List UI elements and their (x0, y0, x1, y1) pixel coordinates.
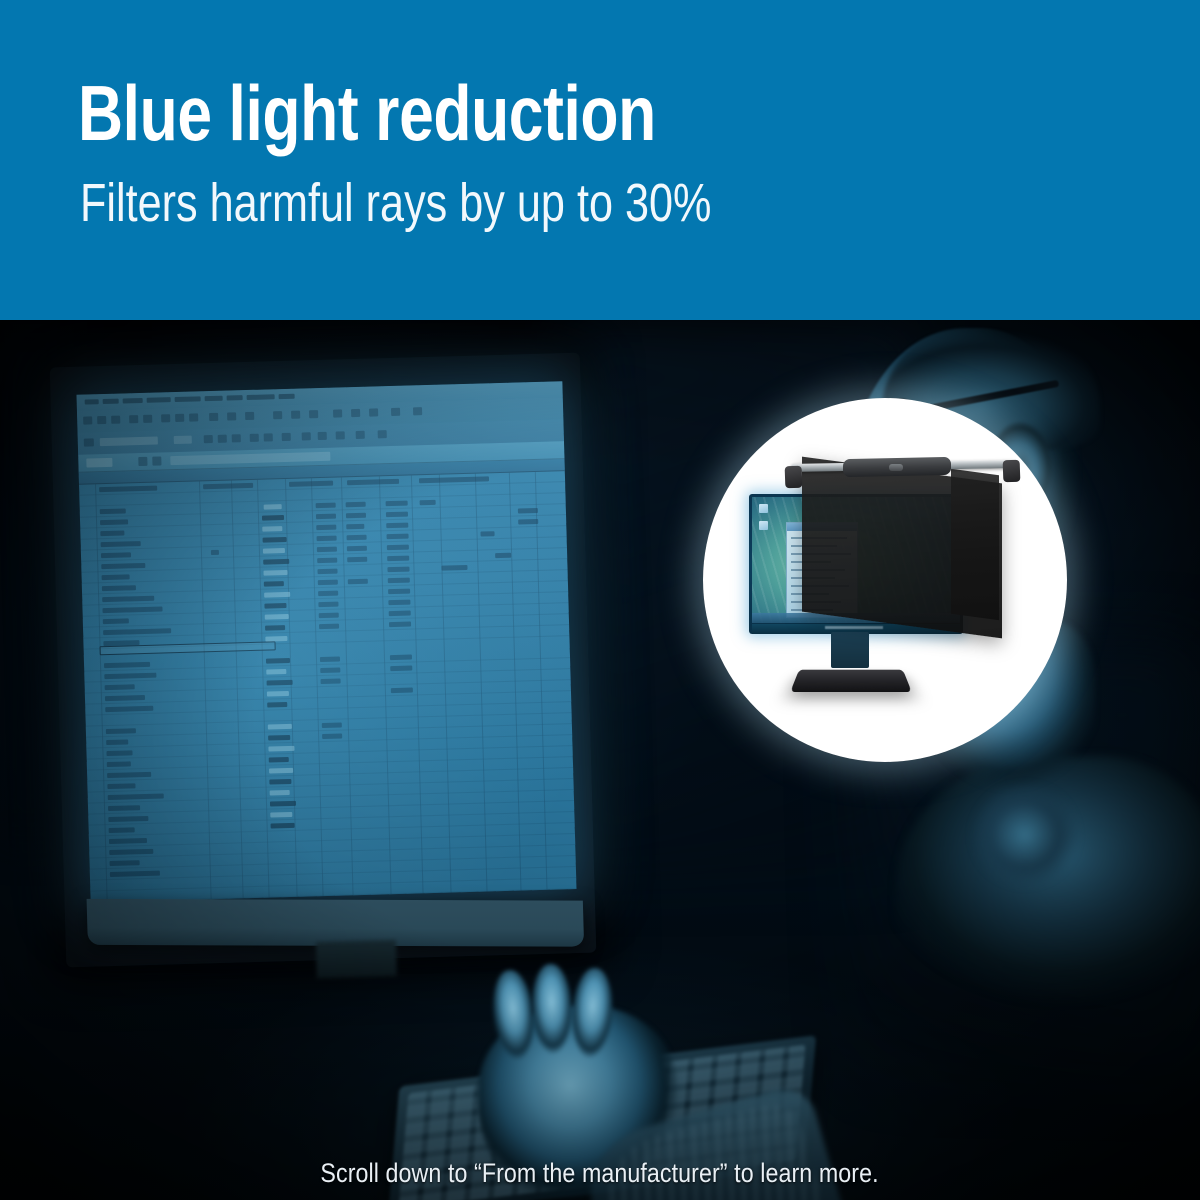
privacy-filter-hinge-detail (889, 464, 903, 471)
photo-scene (0, 320, 1200, 1200)
privacy-filter-panel (802, 457, 1002, 639)
privacy-filter-clip-left (785, 466, 803, 489)
finger (530, 963, 573, 1060)
product-feature-image: Blue light reduction Filters harmful ray… (0, 0, 1200, 1200)
desktop-icon (759, 504, 768, 513)
monitor-screen (76, 381, 576, 902)
header-banner: Blue light reduction Filters harmful ray… (0, 0, 1200, 320)
inset-monitor-brand (825, 626, 883, 629)
monitor-neck (316, 940, 397, 978)
inset-monitor-stand-base (790, 670, 912, 692)
banner-title: Blue light reduction (78, 74, 656, 152)
desktop-monitor (50, 353, 597, 968)
banner-subtitle: Filters harmful rays by up to 30% (80, 176, 711, 230)
shirt-collar (966, 780, 1084, 890)
inset-monitor-stand-neck (831, 632, 869, 668)
caption-text: Scroll down to “From the manufacturer” t… (321, 1158, 879, 1189)
desktop-icon (759, 521, 768, 530)
privacy-filter-clip-right (1003, 460, 1021, 483)
scroll-hint-caption: Scroll down to “From the manufacturer” t… (0, 1158, 1200, 1189)
monitor-chin (87, 899, 585, 947)
product-inset-circle (703, 398, 1067, 762)
spreadsheet-grid (79, 471, 576, 902)
